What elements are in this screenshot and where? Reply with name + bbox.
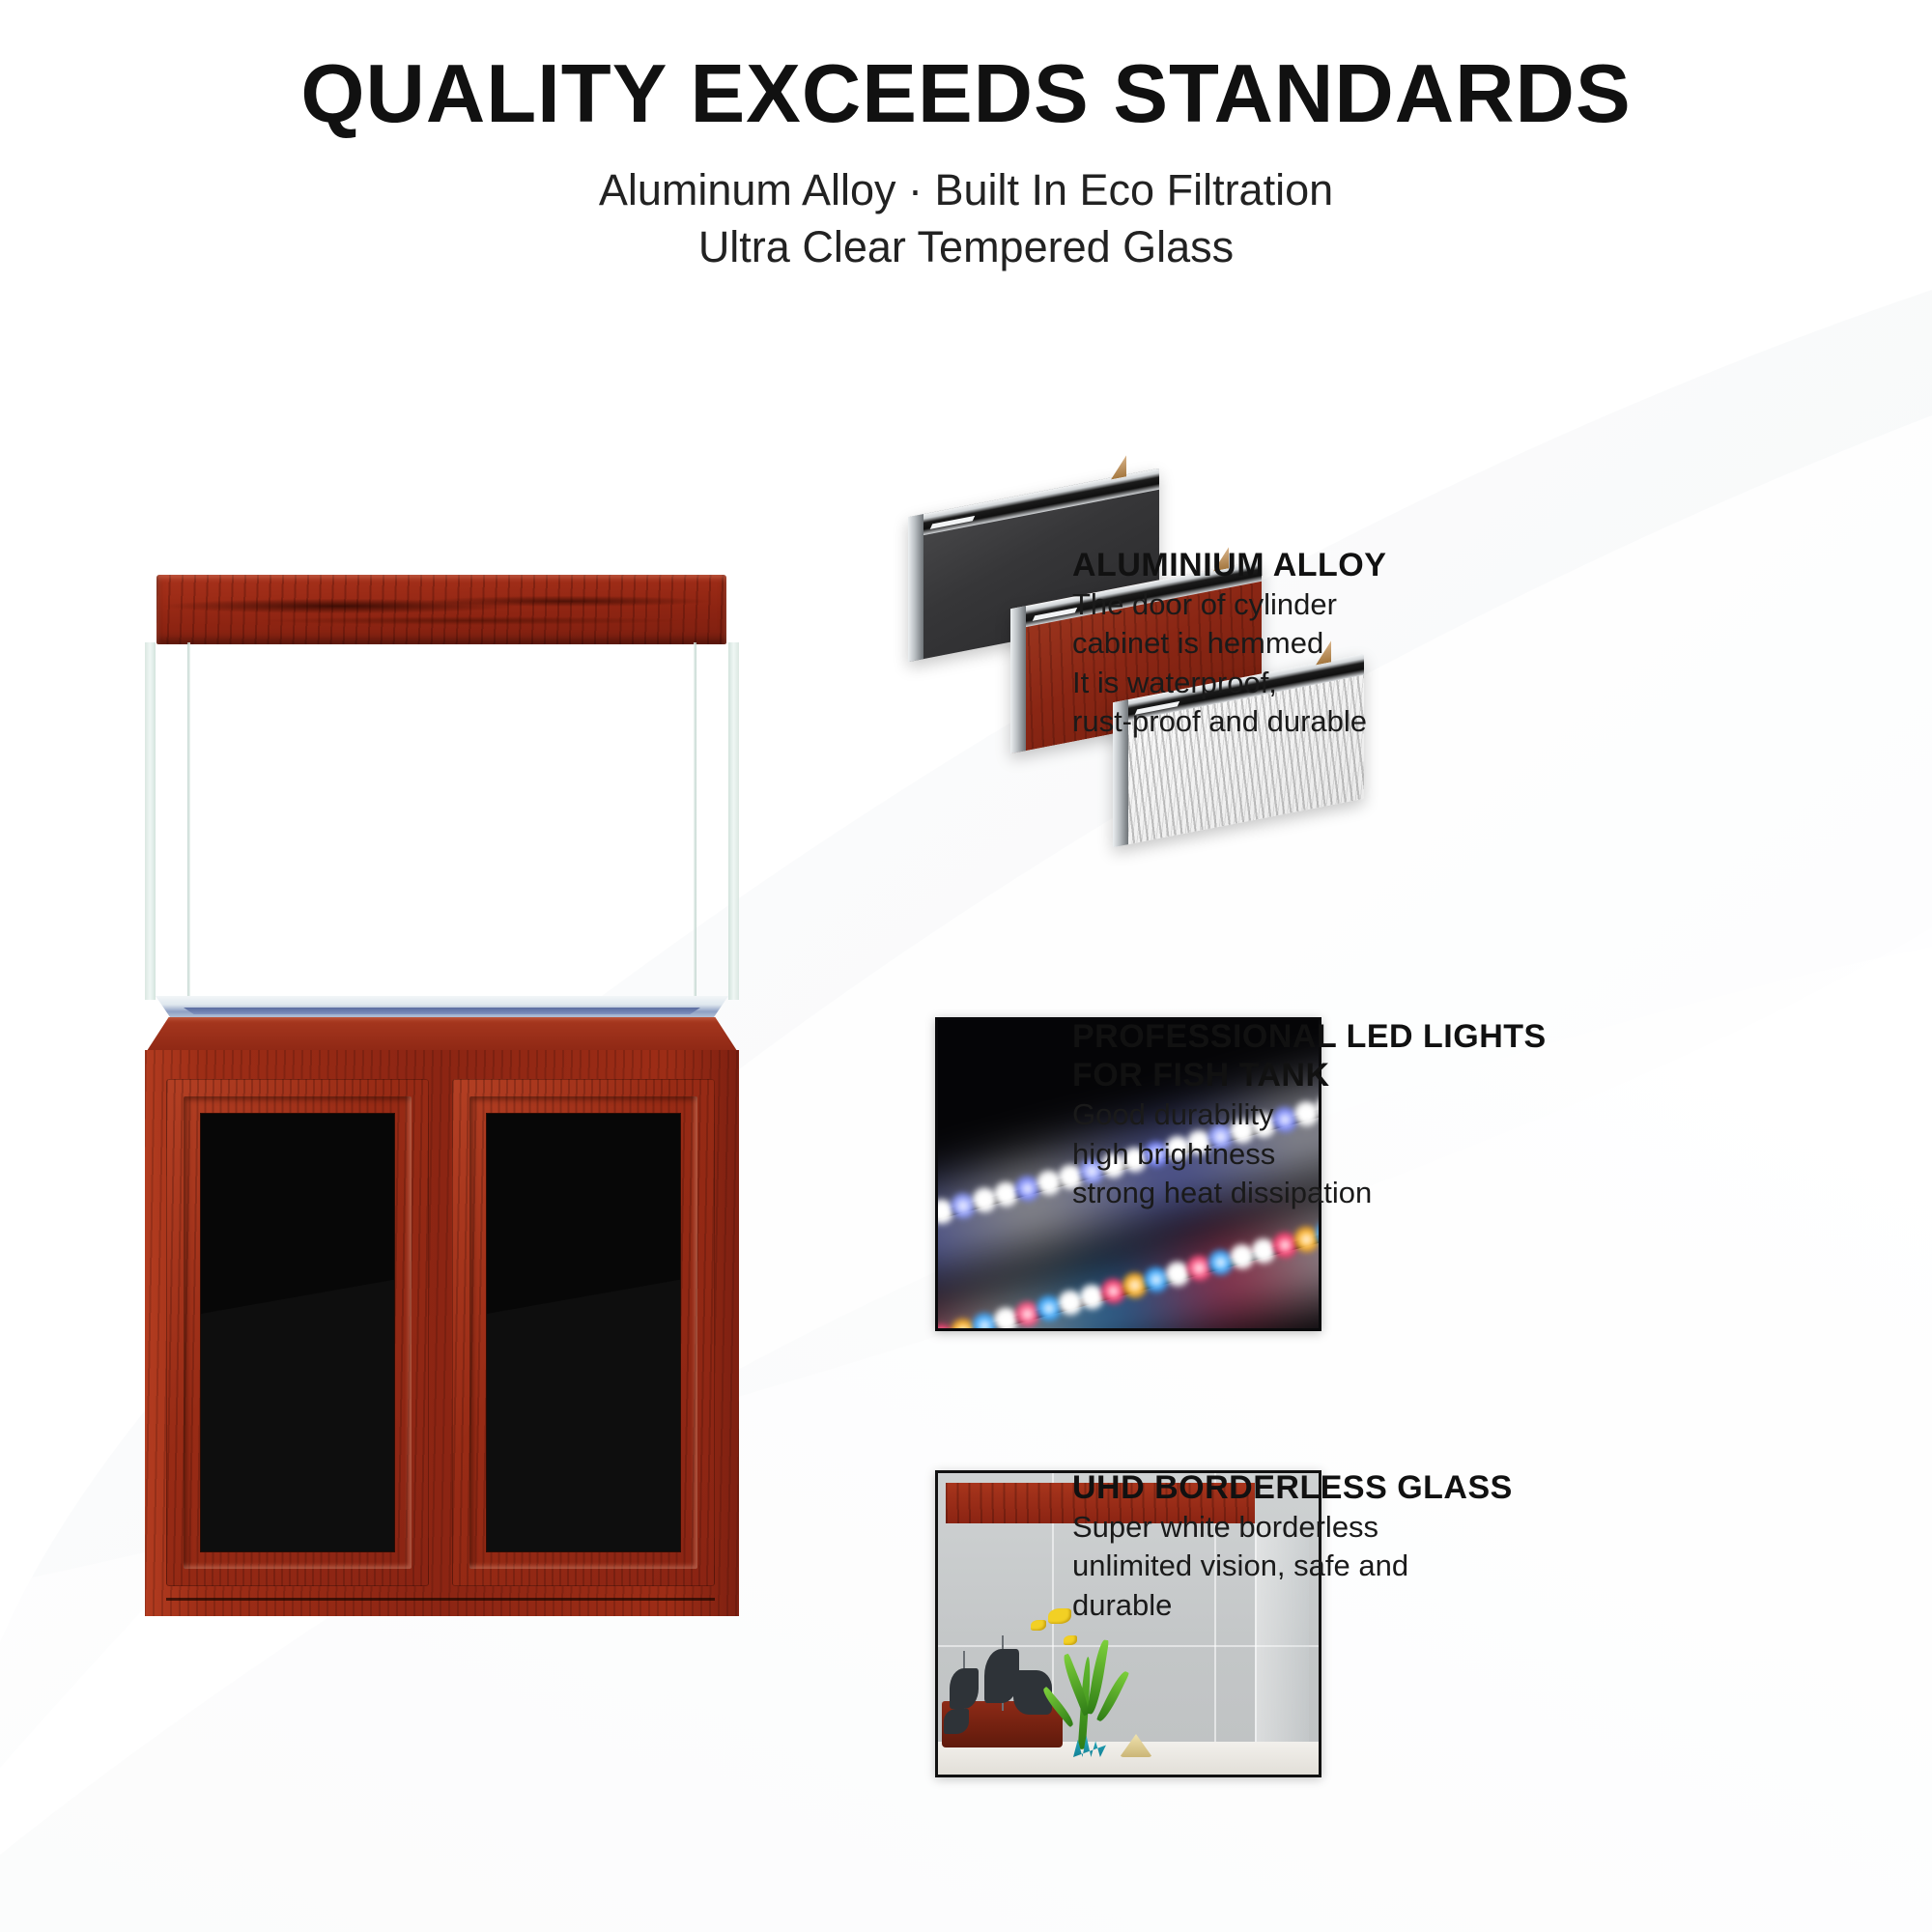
feature-body: The door of cylinder cabinet is hemmed I… [1072, 585, 1386, 741]
cabinet-door-left[interactable] [166, 1079, 429, 1586]
door-black-glass [487, 1114, 680, 1551]
cabinet-top-rail [145, 1017, 739, 1054]
page-title: QUALITY EXCEEDS STANDARDS [0, 53, 1932, 135]
feature-professional-led-lights: PROFESSIONAL LED LIGHTS FOR FISH TANK Go… [1072, 1017, 1547, 1212]
tank-base-line [184, 1008, 700, 1014]
glass-edge-left [145, 642, 156, 1000]
feature-body: Good durability high brightness strong h… [1072, 1095, 1547, 1212]
subtitle-line-1: Aluminum Alloy · Built In Eco Filtration [0, 162, 1932, 219]
glass-inner-left [187, 642, 190, 1000]
feature-uhd-borderless-glass: UHD BORDERLESS GLASS Super white borderl… [1072, 1468, 1513, 1625]
cabinet-body [145, 1050, 739, 1616]
cabinet [145, 1017, 739, 1616]
tank-top-trim [156, 575, 726, 644]
cabinet-door-right[interactable] [452, 1079, 715, 1586]
feature-title-line-1: PROFESSIONAL LED LIGHTS [1072, 1017, 1547, 1056]
feature-title: ALUMINIUM ALLOY [1072, 546, 1386, 584]
glass-inner-right [694, 642, 696, 1000]
product-image-aquarium [145, 575, 739, 1715]
door-black-glass [201, 1114, 394, 1551]
feature-body: Super white borderless unlimited vision,… [1072, 1508, 1513, 1625]
pirate-ship-ornament [942, 1701, 1063, 1747]
tempered-glass-tank [145, 642, 739, 1000]
led-bulb [935, 1200, 936, 1235]
feature-title-line-2: FOR FISH TANK [1072, 1056, 1547, 1094]
glass-edge-right [728, 642, 739, 1000]
led-bulb [935, 1325, 936, 1331]
feature-aluminium-alloy: ALUMINIUM ALLOY The door of cylinder cab… [1072, 546, 1386, 741]
feature-title: UHD BORDERLESS GLASS [1072, 1468, 1513, 1507]
subtitle-line-2: Ultra Clear Tempered Glass [0, 219, 1932, 276]
cabinet-bottom-edge [166, 1598, 715, 1601]
header: QUALITY EXCEEDS STANDARDS Aluminum Alloy… [0, 0, 1932, 275]
hinge-tab-icon [1111, 455, 1126, 479]
